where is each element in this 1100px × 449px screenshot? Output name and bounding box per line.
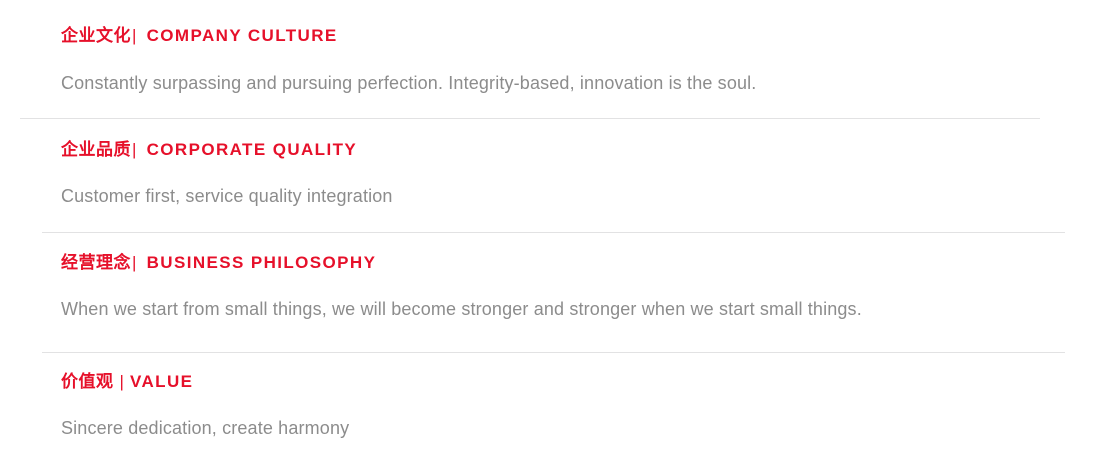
section-content: 企业文化|COMPANY CULTURE Constantly surpassi… (0, 26, 1100, 96)
heading-separator: | (118, 372, 125, 391)
section-divider (42, 232, 1065, 233)
section-content: 价值观 | VALUE Sincere dedication, create h… (0, 372, 1100, 441)
section-divider (20, 118, 1040, 119)
section-company-culture: 企业文化|COMPANY CULTURE Constantly surpassi… (0, 26, 1100, 96)
heading-chinese: 经营理念 (61, 253, 131, 272)
heading-english: VALUE (130, 372, 193, 391)
section-description: Customer first, service quality integrat… (61, 184, 1080, 208)
section-description: Sincere dedication, create harmony (61, 416, 1080, 440)
section-content: 经营理念|BUSINESS PHILOSOPHY When we start f… (0, 253, 1100, 322)
section-description: Constantly surpassing and pursuing perfe… (61, 71, 1080, 95)
company-values-page: 企业文化|COMPANY CULTURE Constantly surpassi… (0, 0, 1100, 449)
section-corporate-quality: 企业品质|CORPORATE QUALITY Customer first, s… (0, 140, 1100, 209)
heading-chinese: 企业品质 (61, 140, 131, 159)
heading-separator: | (131, 26, 138, 45)
heading-english: COMPANY CULTURE (147, 26, 338, 45)
section-business-philosophy: 经营理念|BUSINESS PHILOSOPHY When we start f… (0, 253, 1100, 322)
section-heading: 企业品质|CORPORATE QUALITY (61, 140, 1080, 160)
heading-chinese: 企业文化 (61, 26, 131, 45)
section-heading: 企业文化|COMPANY CULTURE (61, 26, 1080, 46)
heading-separator: | (131, 140, 138, 159)
heading-chinese: 价值观 (61, 372, 114, 391)
section-heading: 经营理念|BUSINESS PHILOSOPHY (61, 253, 1080, 273)
heading-english: BUSINESS PHILOSOPHY (147, 253, 377, 272)
heading-separator: | (131, 253, 138, 272)
section-content: 企业品质|CORPORATE QUALITY Customer first, s… (0, 140, 1100, 209)
section-divider (42, 352, 1065, 353)
section-description: When we start from small things, we will… (61, 297, 1080, 321)
section-heading: 价值观 | VALUE (61, 372, 1080, 392)
heading-english: CORPORATE QUALITY (147, 140, 358, 159)
section-value: 价值观 | VALUE Sincere dedication, create h… (0, 372, 1100, 441)
